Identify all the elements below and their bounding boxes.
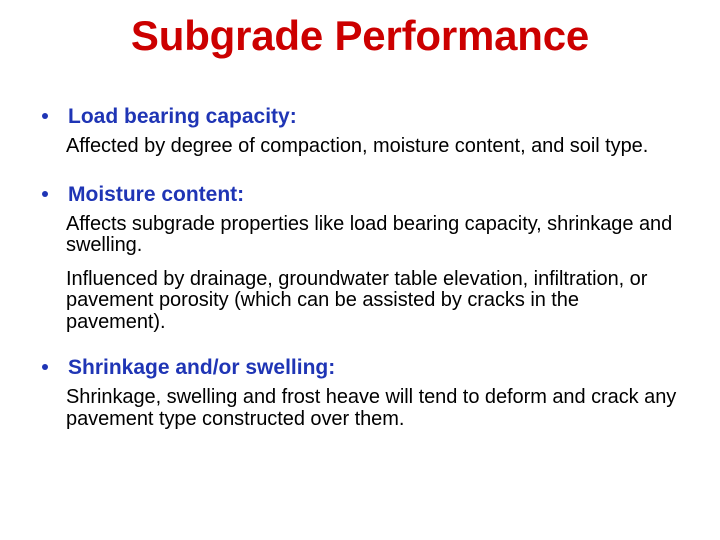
spacer bbox=[0, 333, 720, 355]
bullet-row: Moisture content: bbox=[0, 182, 720, 208]
bullet-section-load-bearing-capacity: Load bearing capacity: Affected by degre… bbox=[0, 104, 720, 158]
bullet-row: Load bearing capacity: bbox=[0, 104, 720, 130]
spacer bbox=[0, 257, 720, 269]
body-paragraph: Shrinkage, swelling and frost heave will… bbox=[0, 387, 720, 430]
bullet-section-moisture-content: Moisture content: Affects subgrade prope… bbox=[0, 182, 720, 334]
bullet-row: Shrinkage and/or swelling: bbox=[0, 355, 720, 381]
body-paragraph: Affected by degree of compaction, moistu… bbox=[0, 136, 720, 158]
bullet-dot-icon bbox=[42, 364, 48, 370]
bullet-dot-icon bbox=[42, 191, 48, 197]
bullet-heading: Shrinkage and/or swelling: bbox=[68, 356, 335, 379]
body-paragraph: Influenced by drainage, groundwater tabl… bbox=[0, 269, 720, 334]
slide-title: Subgrade Performance bbox=[0, 12, 720, 60]
bullet-dot-icon bbox=[42, 113, 48, 119]
bullet-heading: Moisture content: bbox=[68, 183, 244, 206]
body-paragraph: Affects subgrade properties like load be… bbox=[0, 214, 720, 257]
bullet-heading: Load bearing capacity: bbox=[68, 105, 297, 128]
slide-body: Load bearing capacity: Affected by degre… bbox=[0, 104, 720, 430]
presentation-slide: Subgrade Performance Load bearing capaci… bbox=[0, 0, 720, 540]
spacer bbox=[0, 158, 720, 182]
bullet-section-shrinkage-swelling: Shrinkage and/or swelling: Shrinkage, sw… bbox=[0, 355, 720, 430]
